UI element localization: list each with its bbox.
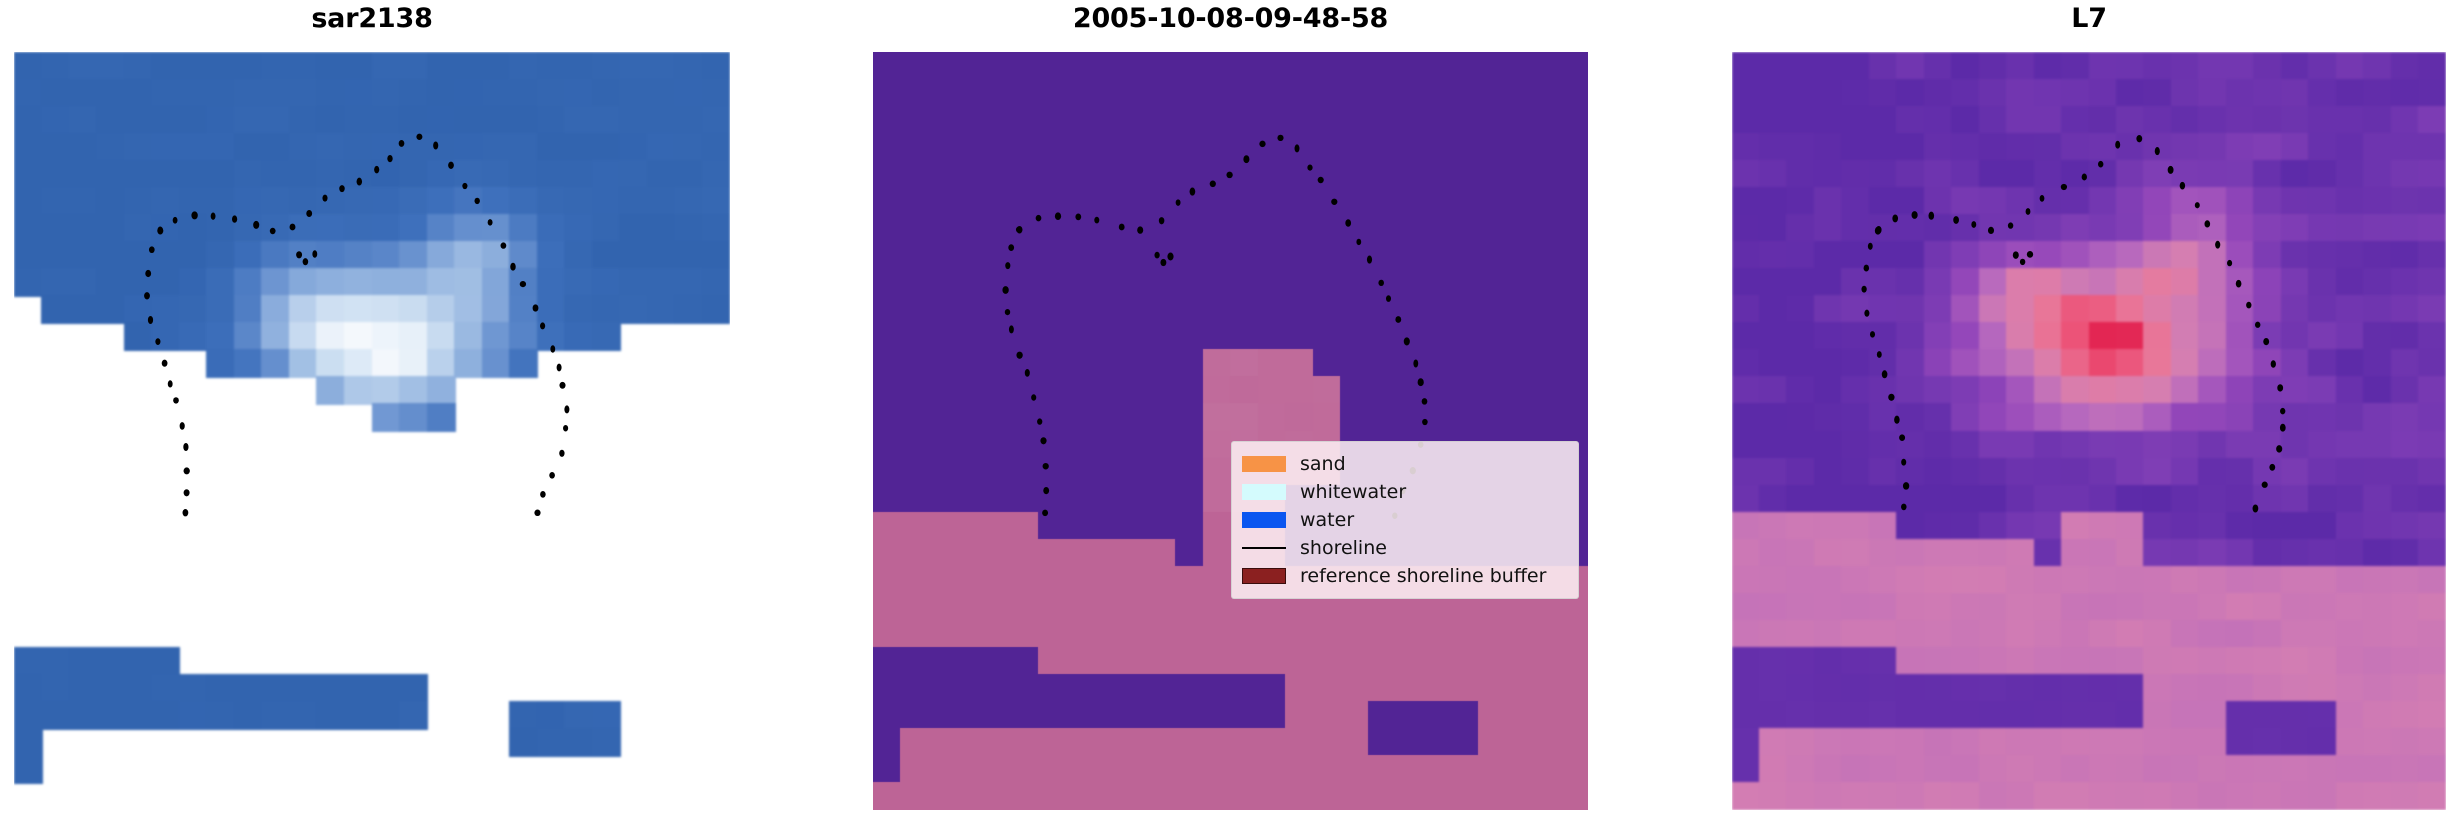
- legend-label-sand: sand: [1300, 455, 1346, 474]
- panel-title-sar: sar2138: [14, 0, 730, 38]
- legend-item-sand: sand: [1242, 450, 1568, 478]
- l7-shoreline-overlay: [1732, 52, 2446, 810]
- legend-label-shoreline: shoreline: [1300, 539, 1387, 558]
- water-color-swatch-icon: [1242, 512, 1286, 528]
- classification-shoreline-overlay: [873, 52, 1588, 810]
- panel-sar: sar2138: [14, 0, 730, 824]
- panel-image-l7: [1732, 52, 2446, 810]
- panel-l7: L7: [1732, 0, 2446, 824]
- panel-image-sar: [14, 52, 730, 810]
- legend-item-reference-buffer: reference shoreline buffer: [1242, 562, 1568, 590]
- whitewater-color-swatch-icon: [1242, 484, 1286, 500]
- sar-shoreline-overlay: [14, 52, 730, 810]
- figure-root: sar2138 2005-10-08-09-48-58 L7 sand whit…: [0, 0, 2460, 824]
- shoreline-line-icon: [1242, 540, 1286, 556]
- legend-label-whitewater: whitewater: [1300, 483, 1406, 502]
- panel-title-l7: L7: [1732, 0, 2446, 38]
- legend-item-shoreline: shoreline: [1242, 534, 1568, 562]
- legend-label-water: water: [1300, 511, 1354, 530]
- reference-shoreline-buffer-color-swatch-icon: [1242, 568, 1286, 584]
- panel-title-classification: 2005-10-08-09-48-58: [873, 0, 1588, 38]
- legend-item-whitewater: whitewater: [1242, 478, 1568, 506]
- sand-color-swatch-icon: [1242, 456, 1286, 472]
- legend: sand whitewater water shoreline referenc…: [1231, 441, 1579, 599]
- legend-item-water: water: [1242, 506, 1568, 534]
- panel-classification: 2005-10-08-09-48-58: [873, 0, 1588, 824]
- legend-label-reference-buffer: reference shoreline buffer: [1300, 567, 1546, 586]
- panel-image-classification: [873, 52, 1588, 810]
